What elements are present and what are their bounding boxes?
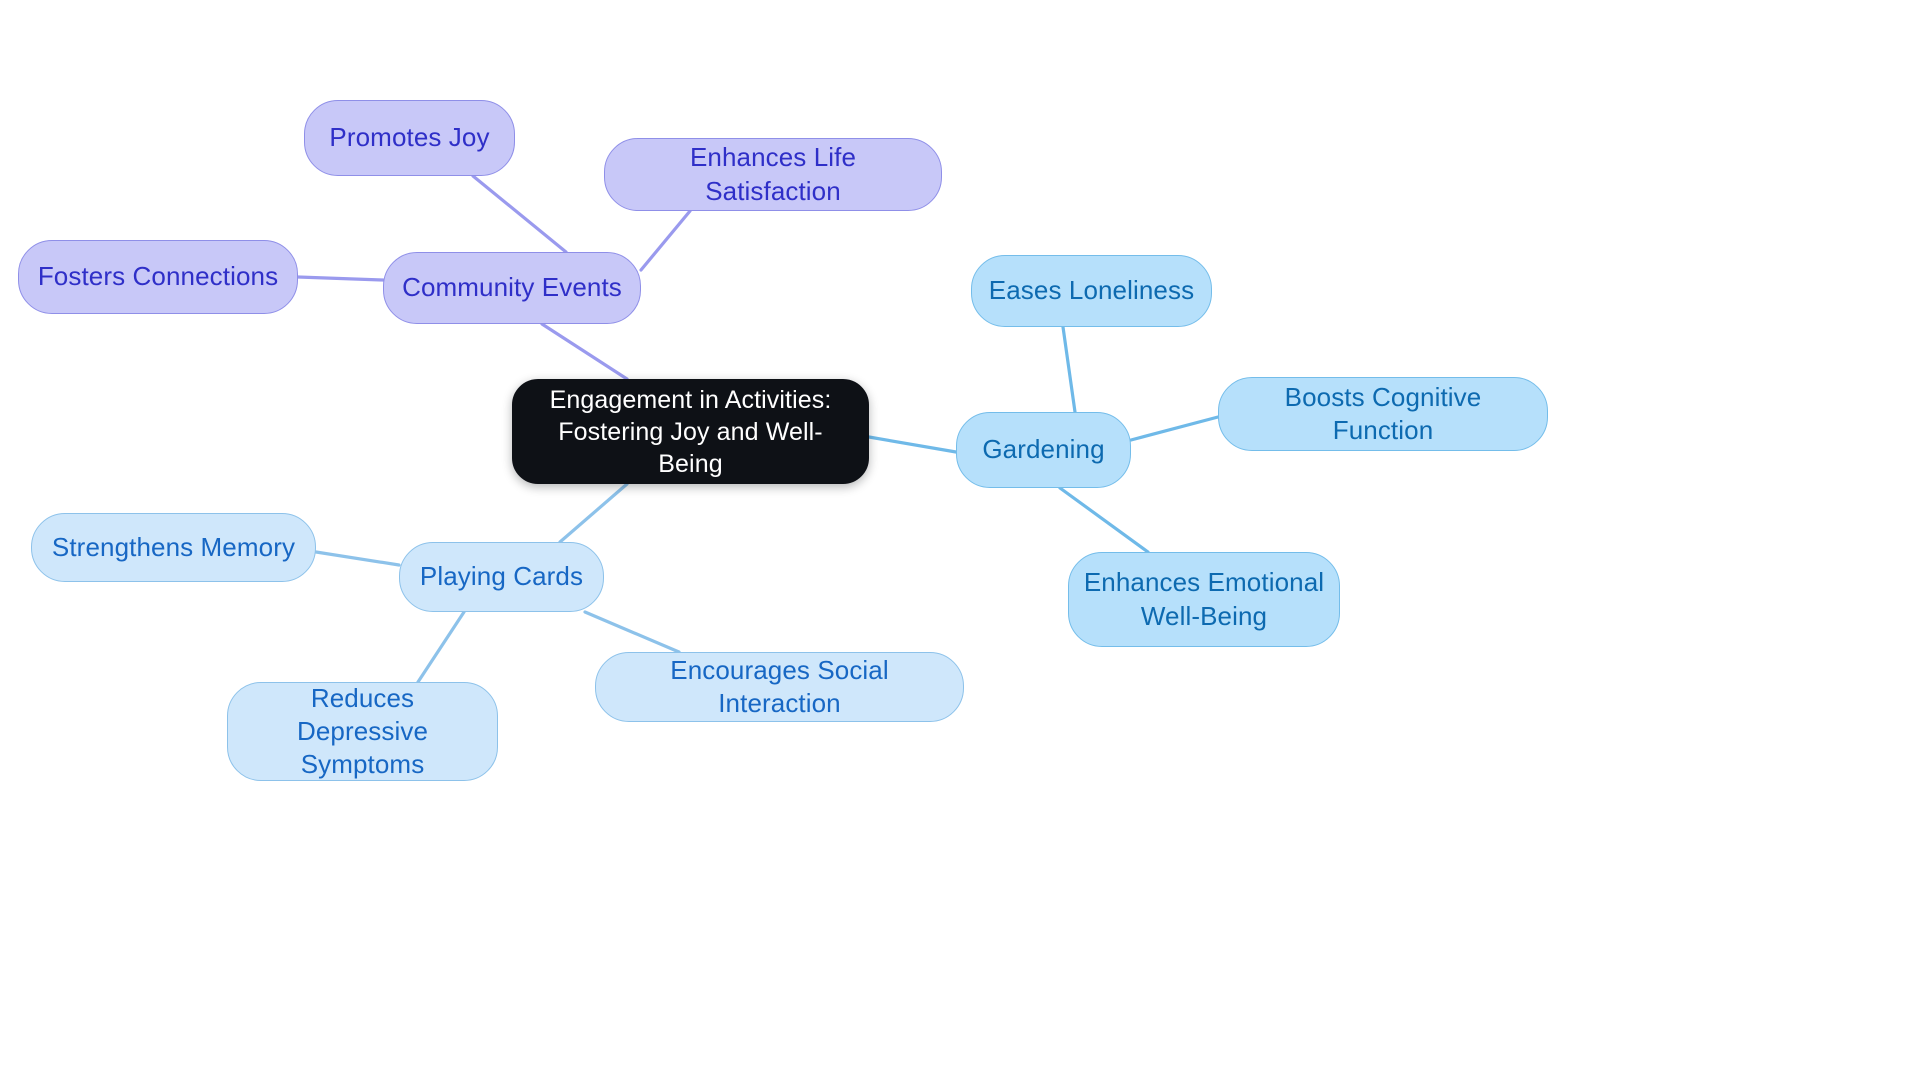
leaf-node-enhances-emotional-well-being[interactable]: Enhances Emotional Well-Being: [1068, 552, 1340, 647]
edge-root-to-playing-cards: [560, 484, 627, 542]
leaf-node-strengthens-memory[interactable]: Strengthens Memory: [31, 513, 316, 582]
leaf-node-enhances-life-satisfaction[interactable]: Enhances Life Satisfaction: [604, 138, 942, 211]
branch-node-playing-cards[interactable]: Playing Cards: [399, 542, 604, 612]
edge-gardening-to-eases-loneliness: [1063, 327, 1075, 412]
leaf-node-fosters-connections[interactable]: Fosters Connections: [18, 240, 298, 314]
edge-playing-cards-to-encourages-social-interaction: [585, 612, 679, 652]
leaf-node-reduces-depressive-symptoms[interactable]: Reduces Depressive Symptoms: [227, 682, 498, 781]
edge-community-events-to-promotes-joy: [473, 176, 566, 252]
leaf-node-eases-loneliness[interactable]: Eases Loneliness: [971, 255, 1212, 327]
leaf-node-encourages-social-interaction[interactable]: Encourages Social Interaction: [595, 652, 964, 722]
leaf-node-promotes-joy[interactable]: Promotes Joy: [304, 100, 515, 176]
leaf-node-boosts-cognitive-function[interactable]: Boosts Cognitive Function: [1218, 377, 1548, 451]
edge-playing-cards-to-strengthens-memory: [316, 552, 399, 565]
edge-playing-cards-to-reduces-depressive-symptoms: [418, 612, 464, 682]
edge-community-events-to-enhances-life-satisfaction: [641, 211, 690, 270]
edge-gardening-to-enhances-emotional-well-being: [1060, 488, 1148, 552]
edge-gardening-to-boosts-cognitive-function: [1131, 417, 1218, 440]
branch-node-gardening[interactable]: Gardening: [956, 412, 1131, 488]
edge-community-events-to-fosters-connections: [298, 277, 383, 280]
edge-root-to-gardening: [869, 437, 956, 452]
node-root[interactable]: Engagement in Activities: Fostering Joy …: [512, 379, 869, 484]
mindmap-canvas: Engagement in Activities: Fostering Joy …: [0, 0, 1920, 1083]
branch-node-community-events[interactable]: Community Events: [383, 252, 641, 324]
edge-root-to-community-events: [542, 324, 627, 379]
